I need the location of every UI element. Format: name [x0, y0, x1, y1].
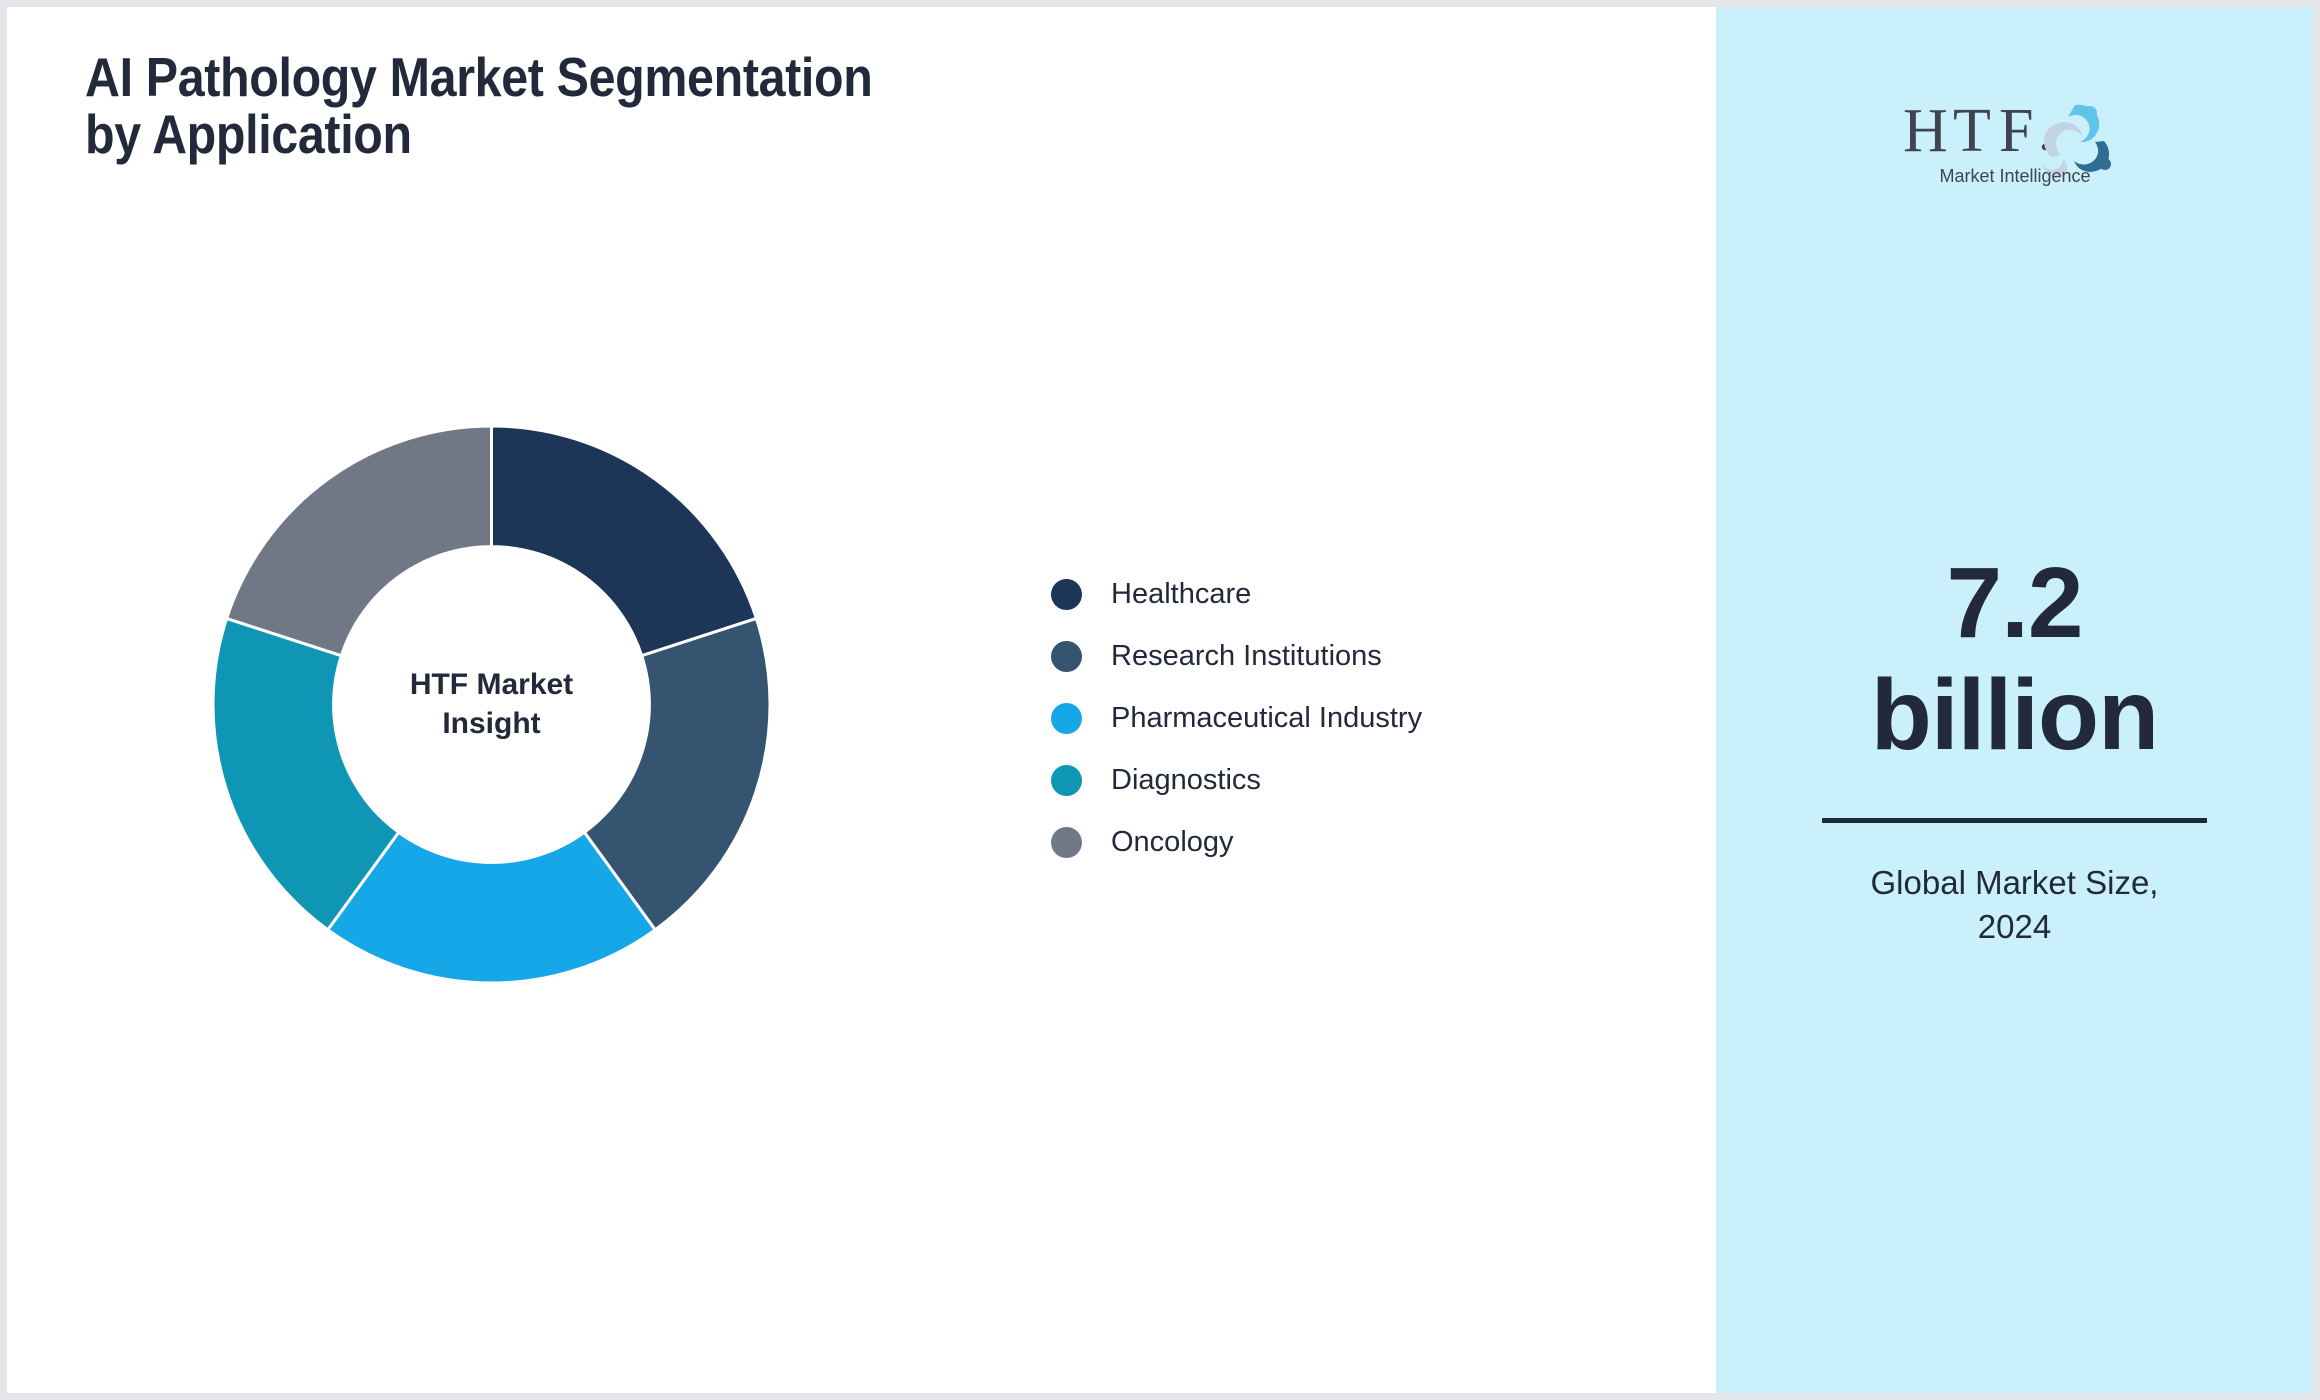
- legend-swatch-icon: [1051, 641, 1082, 672]
- stat-caption: Global Market Size, 2024: [1835, 861, 2195, 949]
- stat-panel: H T F Market Intelligence: [1716, 7, 2313, 1393]
- donut-slice-group: [213, 426, 770, 983]
- donut-chart: HTF Market Insight: [213, 426, 770, 983]
- htf-logo-svg: H T F Market Intelligence: [1899, 79, 2131, 187]
- svg-text:F: F: [1999, 97, 2034, 165]
- legend-item-label: Healthcare: [1111, 578, 1251, 611]
- donut-slice: [492, 426, 757, 656]
- stat-divider: [1822, 818, 2207, 823]
- chart-panel: AI Pathology Market Segmentation by Appl…: [7, 7, 1716, 1393]
- htf-logo-tagline: Market Intelligence: [1939, 166, 2090, 186]
- donut-chart-svg: [213, 426, 770, 983]
- legend-item-label: Oncology: [1111, 826, 1234, 859]
- donut-slice: [227, 426, 492, 656]
- legend-item: Oncology: [1051, 811, 1422, 873]
- htf-logo: H T F Market Intelligence: [1899, 79, 2131, 187]
- chart-legend: HealthcareResearch InstitutionsPharmaceu…: [1051, 563, 1422, 873]
- svg-text:T: T: [1953, 97, 1992, 165]
- legend-swatch-icon: [1051, 703, 1082, 734]
- legend-swatch-icon: [1051, 579, 1082, 610]
- legend-item-label: Diagnostics: [1111, 764, 1261, 797]
- svg-text:H: H: [1903, 97, 1949, 165]
- legend-item: Diagnostics: [1051, 749, 1422, 811]
- market-size-stat: 7.2 billion Global Market Size, 2024: [1716, 547, 2313, 949]
- legend-item: Research Institutions: [1051, 625, 1422, 687]
- legend-swatch-icon: [1051, 827, 1082, 858]
- legend-item: Healthcare: [1051, 563, 1422, 625]
- page-title: AI Pathology Market Segmentation by Appl…: [85, 49, 1053, 162]
- legend-item-label: Research Institutions: [1111, 640, 1382, 673]
- legend-item: Pharmaceutical Industry: [1051, 687, 1422, 749]
- stat-value: 7.2 billion: [1716, 547, 2313, 771]
- legend-item-label: Pharmaceutical Industry: [1111, 702, 1422, 735]
- htf-wordmark-icon: H T F: [1903, 97, 2048, 165]
- legend-swatch-icon: [1051, 765, 1082, 796]
- infographic-root: AI Pathology Market Segmentation by Appl…: [0, 0, 2320, 1400]
